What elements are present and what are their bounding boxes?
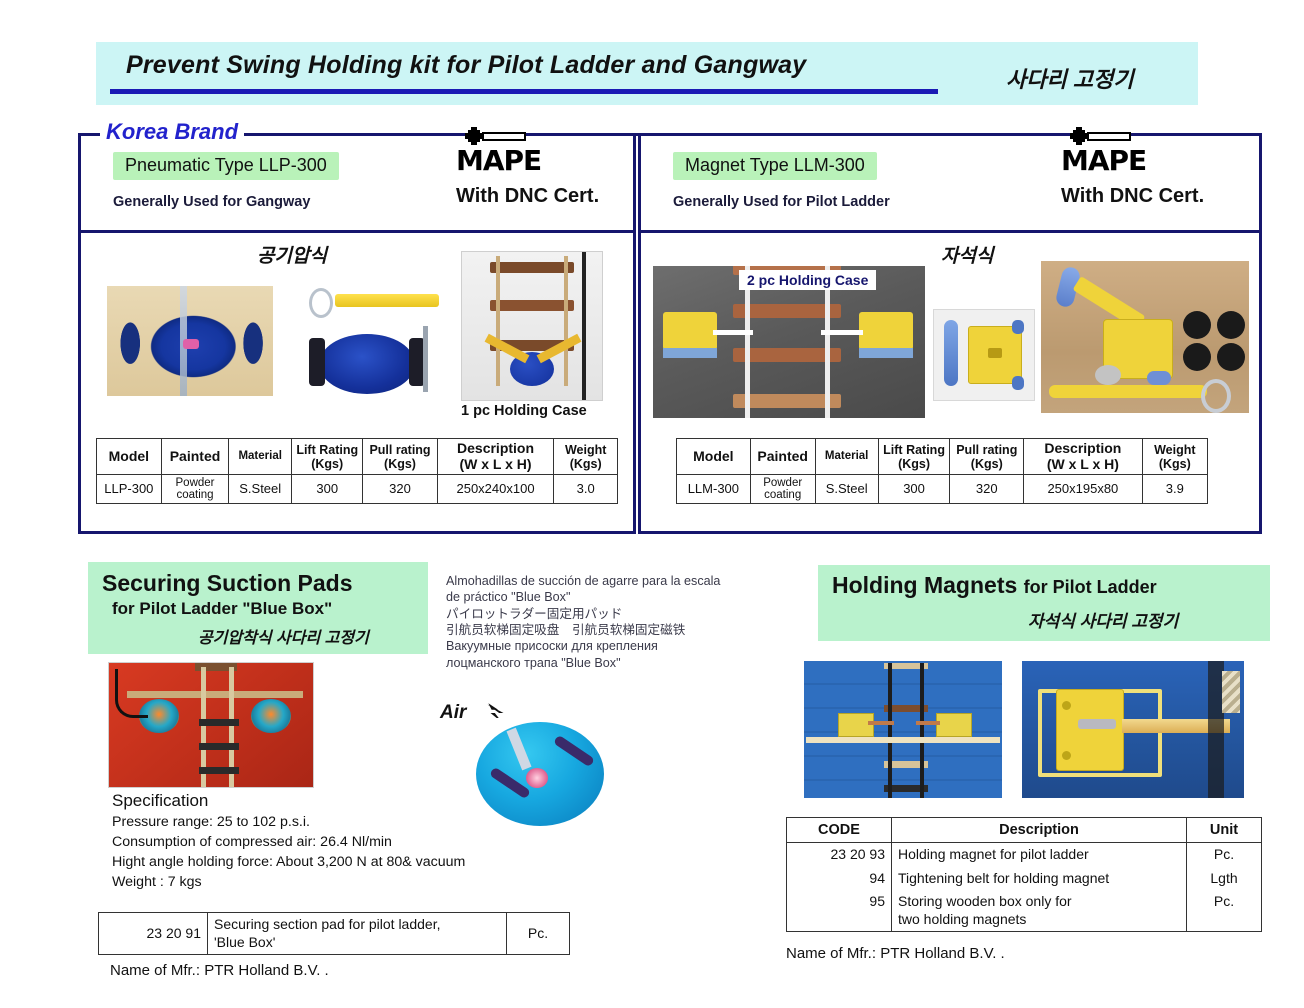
manufacturer-right: Name of Mfr.: PTR Holland B.V. . <box>786 945 1005 962</box>
cell-description-l1: Securing section pad for pilot ladder, <box>214 916 440 932</box>
table-row: 95 Storing wooden box only for two holdi… <box>787 890 1262 932</box>
th-material: Material <box>815 439 878 475</box>
cell-description: Holding magnet for pilot ladder <box>892 843 1187 867</box>
th-unit: Unit <box>1187 818 1262 843</box>
cell-description-l2: two holding magnets <box>898 911 1026 927</box>
holding-magnets-korean: 자석식 사다리 고정기 <box>1028 607 1178 632</box>
table-row: LLP-300 Powder coating S.Steel 300 320 2… <box>97 475 618 504</box>
caption-1pc-holding-case: 1 pc Holding Case <box>461 403 587 419</box>
suction-pads-korean: 공기압착식 사다리 고정기 <box>198 624 369 648</box>
cell-weight: 3.9 <box>1142 475 1207 504</box>
mape-plus-icon <box>468 130 480 142</box>
th-pull-rating-l1: Pull rating <box>956 443 1017 457</box>
cell-lift-rating: 300 <box>878 475 950 504</box>
photo-red-hull-suction-pads <box>108 662 314 788</box>
photo-1pc-holding-case <box>461 251 603 401</box>
th-pull-rating-l1: Pull rating <box>369 443 430 457</box>
cell-code: 23 20 91 <box>99 913 208 955</box>
th-description-l2: (W x L x H) <box>459 456 531 472</box>
cell-material: S.Steel <box>229 475 292 504</box>
th-weight-l1: Weight <box>1154 443 1195 457</box>
cell-description: Tightening belt for holding magnet <box>892 867 1187 891</box>
overlay-2pc-holding-case: 2 pc Holding Case <box>739 270 876 290</box>
panel-magnet-header: Magnet Type LLM-300 Generally Used for P… <box>641 136 1259 233</box>
photo-suction-unit-top <box>107 286 273 396</box>
specification-heading: Specification <box>112 791 208 811</box>
multilang-line-1: Almohadillas de succión de agarre para l… <box>446 573 802 589</box>
mape-bar-icon <box>482 132 526 141</box>
table-row: 94 Tightening belt for holding magnet Lg… <box>787 867 1262 891</box>
th-description-l2: (W x L x H) <box>1047 456 1119 472</box>
mape-logo-icon: MAPE <box>1061 144 1146 177</box>
mape-plus-icon <box>1073 130 1085 142</box>
photo-suction-unit-strap <box>291 286 443 396</box>
air-label: Air <box>440 702 466 724</box>
photo-blue-hull-ladder-magnets <box>804 661 1002 798</box>
th-lift-rating: Lift Rating (Kgs) <box>878 439 950 475</box>
th-description: Description (W x L x H) <box>437 439 554 475</box>
holding-magnets-title: Holding Magnets <box>832 572 1017 598</box>
suction-pads-badge: Securing Suction Pads for Pilot Ladder "… <box>88 562 428 654</box>
holding-magnets-title-row: Holding Magnets for Pilot Ladder <box>832 572 1157 599</box>
photo-blue-suction-pad <box>470 718 610 830</box>
mape-logo-block-left: MAPE With DNC Cert. <box>456 144 599 208</box>
title-underline <box>110 89 938 94</box>
th-painted: Painted <box>161 439 229 475</box>
cell-model: LLM-300 <box>677 475 751 504</box>
spec-table-magnet: Model Painted Material Lift Rating (Kgs)… <box>676 438 1208 504</box>
brand-label: Korea Brand <box>100 119 244 145</box>
spec-line-weight: Weight : 7 kgs <box>112 873 465 893</box>
manufacturer-left: Name of Mfr.: PTR Holland B.V. . <box>110 962 329 979</box>
multilang-line-2: de práctico "Blue Box" <box>446 589 802 605</box>
th-weight-l2: (Kgs) <box>1159 457 1191 471</box>
cell-weight: 3.0 <box>554 475 618 504</box>
cell-description-l2: 'Blue Box' <box>214 934 275 950</box>
cell-model: LLP-300 <box>97 475 162 504</box>
table-header-row: Model Painted Material Lift Rating (Kgs)… <box>677 439 1208 475</box>
cell-description: Storing wooden box only for two holding … <box>892 890 1187 932</box>
th-lift-rating: Lift Rating (Kgs) <box>292 439 363 475</box>
type-badge-magnet: Magnet Type LLM-300 <box>673 152 877 180</box>
cell-material: S.Steel <box>815 475 878 504</box>
cell-description-l1: Storing wooden box only for <box>898 893 1072 909</box>
mape-wordmark: MAPE <box>1061 144 1146 177</box>
page-title: Prevent Swing Holding kit for Pilot Ladd… <box>126 51 806 80</box>
cell-pull-rating: 320 <box>363 475 437 504</box>
specification-list: Pressure range: 25 to 102 p.s.i. Consump… <box>112 813 465 893</box>
th-description-l1: Description <box>457 440 534 456</box>
table-row: 23 20 91 Securing section pad for pilot … <box>99 913 570 955</box>
th-weight: Weight (Kgs) <box>1142 439 1207 475</box>
th-pull-rating-l2: (Kgs) <box>971 457 1003 471</box>
spec-line-consumption: Consumption of compressed air: 26.4 Nl/m… <box>112 833 465 853</box>
multilang-line-4: 引航员软梯固定吸盘 引航员软梯固定磁铁 <box>446 622 802 638</box>
th-lift-rating-l2: (Kgs) <box>311 457 343 471</box>
suction-pads-subtitle: for Pilot Ladder "Blue Box" <box>112 599 332 619</box>
page-title-korean: 사다리 고정기 <box>1006 62 1134 94</box>
th-description: Description (W x L x H) <box>1024 439 1143 475</box>
cell-painted: Powder coating <box>161 475 229 504</box>
multilang-description: Almohadillas de succión de agarre para l… <box>446 573 802 671</box>
table-row: LLM-300 Powder coating S.Steel 300 320 2… <box>677 475 1208 504</box>
mape-wordmark: MAPE <box>456 144 541 177</box>
mape-bar-icon <box>1087 132 1131 141</box>
cell-pull-rating: 320 <box>950 475 1024 504</box>
dnc-cert-right: With DNC Cert. <box>1061 185 1204 208</box>
mape-logo-icon: MAPE <box>456 144 541 177</box>
photo-magnet-closeup-belt <box>1022 661 1244 798</box>
th-weight: Weight (Kgs) <box>554 439 618 475</box>
cell-painted-l2: coating <box>176 489 213 501</box>
kr-caption-pneumatic: 공기압식 <box>257 241 327 268</box>
table-header-row: Model Painted Material Lift Rating (Kgs)… <box>97 439 618 475</box>
holding-magnets-badge: Holding Magnets for Pilot Ladder 자석식 사다리… <box>818 565 1270 641</box>
th-painted: Painted <box>750 439 815 475</box>
th-pull-rating-l2: (Kgs) <box>384 457 416 471</box>
holding-magnets-code-table: CODE Description Unit 23 20 93 Holding m… <box>786 817 1262 932</box>
type-subtitle-magnet: Generally Used for Pilot Ladder <box>673 194 890 210</box>
cell-code: 94 <box>787 867 892 891</box>
cell-unit: Pc. <box>1187 843 1262 867</box>
table-row: 23 20 93 Holding magnet for pilot ladder… <box>787 843 1262 867</box>
cell-painted: Powder coating <box>750 475 815 504</box>
type-badge-pneumatic: Pneumatic Type LLP-300 <box>113 152 339 180</box>
th-lift-rating-l2: (Kgs) <box>898 457 930 471</box>
th-code: CODE <box>787 818 892 843</box>
cell-description: 250x240x100 <box>437 475 554 504</box>
cell-description: Securing section pad for pilot ladder, '… <box>208 913 507 955</box>
type-subtitle-pneumatic: Generally Used for Gangway <box>113 194 310 210</box>
th-description-l1: Description <box>1044 440 1121 456</box>
panel-pneumatic-header: Pneumatic Type LLP-300 Generally Used fo… <box>81 136 633 233</box>
photo-magnet-with-accessories <box>1041 261 1249 413</box>
th-pull-rating: Pull rating (Kgs) <box>363 439 437 475</box>
th-pull-rating: Pull rating (Kgs) <box>950 439 1024 475</box>
cell-unit: Pc. <box>1187 890 1262 932</box>
th-weight-l2: (Kgs) <box>570 457 602 471</box>
multilang-line-6: лоцманского трапа "Blue Box" <box>446 655 802 671</box>
holding-magnets-subtitle: for Pilot Ladder <box>1024 577 1157 597</box>
cell-painted-l2: coating <box>764 489 801 501</box>
th-weight-l1: Weight <box>565 443 606 457</box>
th-model: Model <box>97 439 162 475</box>
photo-ladder-two-magnets: 2 pc Holding Case <box>653 266 925 418</box>
suction-pads-code-table: 23 20 91 Securing section pad for pilot … <box>98 912 570 955</box>
spec-line-pressure: Pressure range: 25 to 102 p.s.i. <box>112 813 465 833</box>
cell-painted-l1: Powder <box>176 477 215 489</box>
cell-description: 250x195x80 <box>1024 475 1143 504</box>
suction-pads-title: Securing Suction Pads <box>102 570 353 597</box>
photo-single-magnet-unit <box>933 309 1035 401</box>
cell-unit: Pc. <box>507 913 570 955</box>
th-model: Model <box>677 439 751 475</box>
th-lift-rating-l1: Lift Rating <box>883 443 945 457</box>
th-description: Description <box>892 818 1187 843</box>
kr-caption-magnet: 자석식 <box>941 241 993 268</box>
table-header-row: CODE Description Unit <box>787 818 1262 843</box>
cell-painted-l1: Powder <box>763 477 802 489</box>
multilang-line-3: パイロットラダー固定用パッド <box>446 606 802 622</box>
multilang-line-5: Вакуумные присоски для крепления <box>446 638 802 654</box>
header-banner: Prevent Swing Holding kit for Pilot Ladd… <box>96 42 1198 105</box>
cell-lift-rating: 300 <box>292 475 363 504</box>
th-lift-rating-l1: Lift Rating <box>296 443 358 457</box>
cell-code: 23 20 93 <box>787 843 892 867</box>
spec-table-pneumatic: Model Painted Material Lift Rating (Kgs)… <box>96 438 618 504</box>
mape-logo-block-right: MAPE With DNC Cert. <box>1061 144 1204 208</box>
dnc-cert-left: With DNC Cert. <box>456 185 599 208</box>
spec-line-holding-force: Hight angle holding force: About 3,200 N… <box>112 853 465 873</box>
cell-code: 95 <box>787 890 892 932</box>
cell-unit: Lgth <box>1187 867 1262 891</box>
th-material: Material <box>229 439 292 475</box>
